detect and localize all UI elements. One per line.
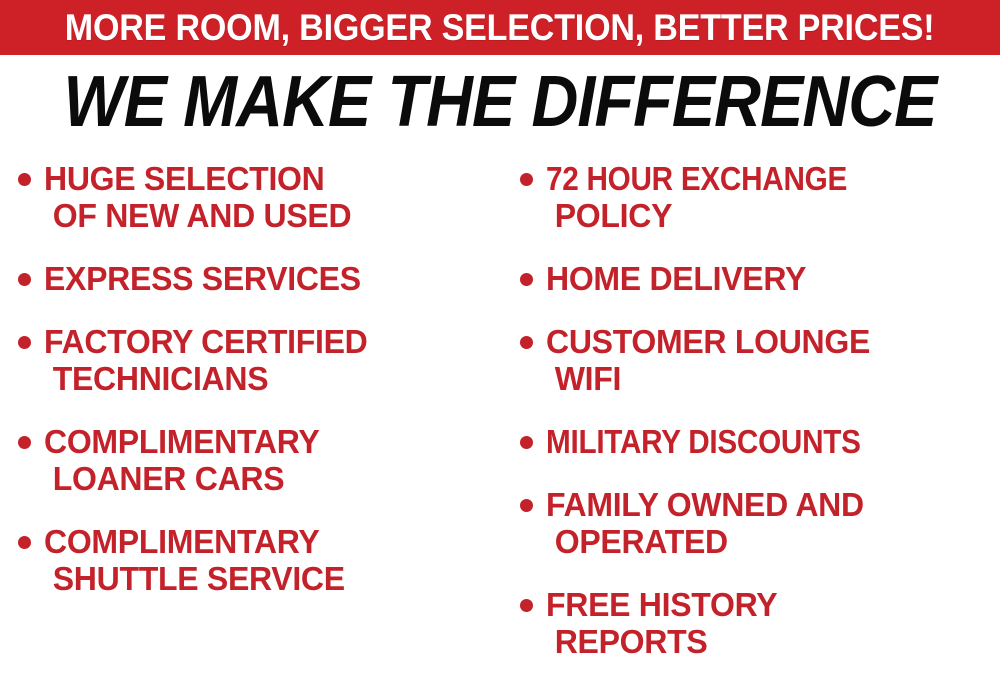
benefit-line: TECHNICIANS [44, 360, 475, 397]
benefit-item: EXPRESS SERVICES [18, 260, 488, 297]
benefit-item-text: 72 HOUR EXCHANGEPOLICY [546, 160, 998, 234]
top-banner-headline: MORE ROOM, BIGGER SELECTION, BETTER PRIC… [65, 9, 935, 46]
benefit-item: COMPLIMENTARYSHUTTLE SERVICE [18, 523, 488, 597]
benefit-item-text: HUGE SELECTIONOF NEW AND USED [44, 160, 488, 234]
main-headline: WE MAKE THE DIFFERENCE [0, 66, 1000, 138]
bullet-dot-icon [18, 273, 31, 286]
bullet-dot-icon [520, 273, 533, 286]
benefit-line: FREE HISTORY [546, 586, 984, 623]
benefit-line: FAMILY OWNED AND [546, 486, 984, 523]
benefit-item: MILITARY DISCOUNTS [520, 423, 998, 460]
promotional-banner-page: MORE ROOM, BIGGER SELECTION, BETTER PRIC… [0, 0, 1000, 694]
benefit-line: HOME DELIVERY [546, 260, 984, 297]
benefit-line: OPERATED [546, 523, 984, 560]
benefits-column-left: HUGE SELECTIONOF NEW AND USEDEXPRESS SER… [18, 160, 488, 623]
benefit-item: COMPLIMENTARYLOANER CARS [18, 423, 488, 497]
benefits-columns: HUGE SELECTIONOF NEW AND USEDEXPRESS SER… [0, 160, 1000, 680]
benefit-line: COMPLIMENTARY [44, 423, 475, 460]
bullet-dot-icon [18, 436, 31, 449]
benefit-line: WIFI [546, 360, 984, 397]
benefit-line: OF NEW AND USED [44, 197, 475, 234]
benefit-line: HUGE SELECTION [44, 160, 475, 197]
bullet-dot-icon [520, 173, 533, 186]
benefit-item: 72 HOUR EXCHANGEPOLICY [520, 160, 998, 234]
bullet-dot-icon [18, 173, 31, 186]
benefit-line: MILITARY DISCOUNTS [546, 423, 953, 460]
benefit-item-text: CUSTOMER LOUNGEWIFI [546, 323, 998, 397]
benefit-item-text: FAMILY OWNED ANDOPERATED [546, 486, 998, 560]
benefit-item: FACTORY CERTIFIEDTECHNICIANS [18, 323, 488, 397]
main-headline-text: WE MAKE THE DIFFERENCE [63, 66, 936, 138]
benefit-item-text: FREE HISTORYREPORTS [546, 586, 998, 660]
benefit-line: FACTORY CERTIFIED [44, 323, 475, 360]
benefit-item-text: EXPRESS SERVICES [44, 260, 488, 297]
benefits-column-right: 72 HOUR EXCHANGEPOLICYHOME DELIVERYCUSTO… [520, 160, 998, 686]
benefit-item-text: COMPLIMENTARYSHUTTLE SERVICE [44, 523, 488, 597]
benefit-line: 72 HOUR EXCHANGE [546, 160, 953, 197]
bullet-dot-icon [18, 336, 31, 349]
benefit-item: HOME DELIVERY [520, 260, 998, 297]
benefit-item-text: COMPLIMENTARYLOANER CARS [44, 423, 488, 497]
benefit-line: POLICY [546, 197, 984, 234]
benefit-line: REPORTS [546, 623, 984, 660]
benefit-item: CUSTOMER LOUNGEWIFI [520, 323, 998, 397]
benefit-item-text: HOME DELIVERY [546, 260, 998, 297]
bullet-dot-icon [520, 436, 533, 449]
benefit-item-text: FACTORY CERTIFIEDTECHNICIANS [44, 323, 488, 397]
bullet-dot-icon [520, 336, 533, 349]
top-banner: MORE ROOM, BIGGER SELECTION, BETTER PRIC… [0, 0, 1000, 55]
benefit-line: EXPRESS SERVICES [44, 260, 475, 297]
benefit-line: LOANER CARS [44, 460, 475, 497]
benefit-item: FAMILY OWNED ANDOPERATED [520, 486, 998, 560]
benefit-line: SHUTTLE SERVICE [44, 560, 475, 597]
bullet-dot-icon [520, 499, 533, 512]
bullet-dot-icon [18, 536, 31, 549]
benefit-line: COMPLIMENTARY [44, 523, 475, 560]
benefit-item: HUGE SELECTIONOF NEW AND USED [18, 160, 488, 234]
benefit-item-text: MILITARY DISCOUNTS [546, 423, 998, 460]
bullet-dot-icon [520, 599, 533, 612]
benefit-line: CUSTOMER LOUNGE [546, 323, 984, 360]
benefit-item: FREE HISTORYREPORTS [520, 586, 998, 660]
